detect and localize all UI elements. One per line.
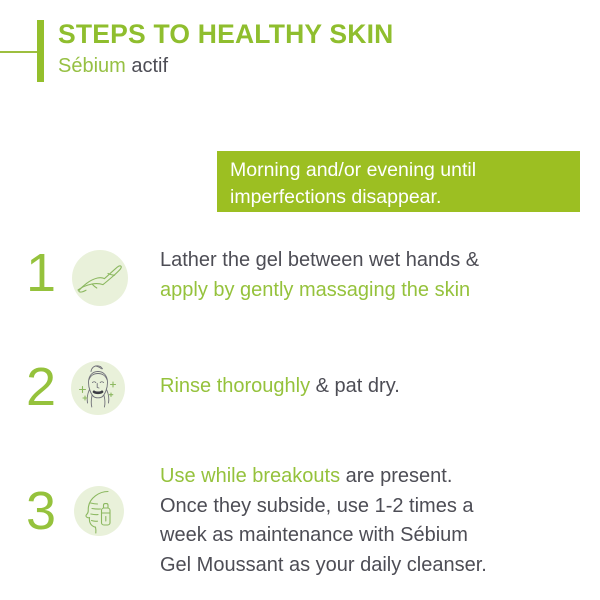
hand-with-gel-icon [72,250,128,306]
step-text-1: Lather the gel between wet hands & apply… [160,246,586,305]
header-text-group: STEPS TO HEALTHY SKIN Sébium actif [58,18,394,79]
step-3-line-3: week as maintenance with Sébium [160,521,586,551]
header-accent-bar [37,20,44,82]
face-rinse-icon [71,361,125,415]
step-3-line-4: Gel Moussant as your daily cleanser. [160,551,586,581]
step-text-3: Use while breakouts are present. Once th… [160,462,586,580]
step-number-2: 2 [18,358,64,416]
product-subtitle: Sébium actif [58,53,394,79]
page-header: STEPS TO HEALTHY SKIN Sébium actif [0,0,600,110]
step-text-2: Rinse thoroughly & pat dry. [160,372,586,402]
step-1-line-1: Lather the gel between wet hands & [160,246,586,276]
product-variant-label: actif [126,55,168,77]
usage-frequency-banner: Morning and/or evening until imperfectio… [217,151,580,212]
step-number-1: 1 [18,244,64,302]
step-number-3: 3 [18,482,64,540]
header-rule-decoration [0,51,37,53]
page-title: STEPS TO HEALTHY SKIN [58,18,394,50]
banner-line-1: Morning and/or evening until [230,157,580,184]
step-2-line-1: Rinse thoroughly & pat dry. [160,372,586,402]
banner-line-2: imperfections disappear. [230,184,580,211]
step-3-line-1: Use while breakouts are present. [160,462,586,492]
step-1-line-2: apply by gently massaging the skin [160,276,586,306]
product-brand-label: Sébium [58,55,126,77]
step-3-line-2: Once they subside, use 1-2 times a [160,492,586,522]
face-profile-applying-icon [74,486,124,536]
